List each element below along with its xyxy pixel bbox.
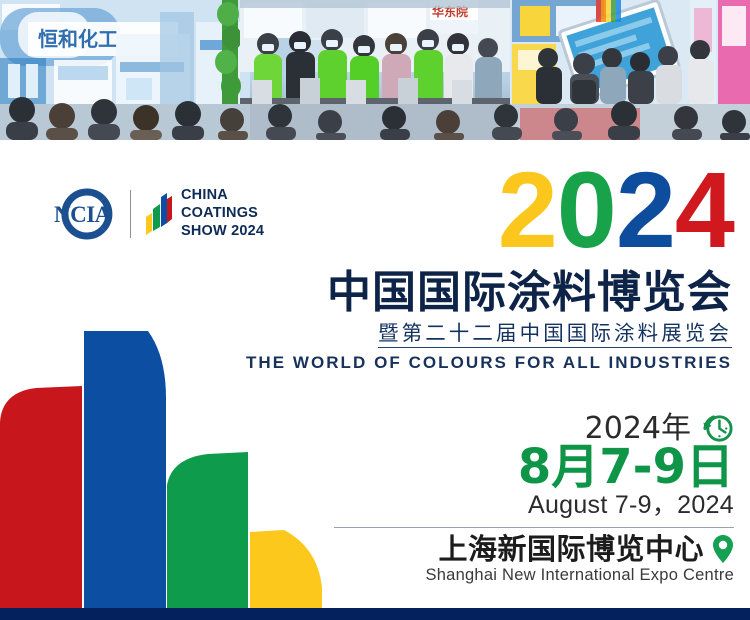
logo-line-1: CHINA [181,187,264,205]
china-coatings-show-text: CHINA COATINGS SHOW 2024 [181,187,264,240]
venue-english: Shanghai New International Expo Centre [334,566,734,585]
poster-root: 恒和化工 [0,0,750,620]
bar-blue [84,331,166,610]
info-divider [334,527,734,528]
colored-bars-icon [145,191,173,237]
svg-text:恒和化工: 恒和化工 [38,27,118,51]
banner-photo-illustration: 恒和化工 [0,0,750,140]
venue-chinese: 上海新国际博览中心 [438,534,704,566]
date-main: 8月7-9日 [334,443,734,491]
title-chinese-sub: 暨第二十二届中国国际涂料展览会 [378,322,732,349]
year-digit-1: 2 [498,156,557,264]
bottom-navy-strip [0,608,750,620]
year-digit-4: 4 [675,156,734,264]
title-chinese: 中国国际涂料博览会 [222,270,732,317]
logo-divider [130,190,131,238]
bar-yellow [250,530,322,610]
title-block: 中国国际涂料博览会 暨第二十二届中国国际涂料展览会 THE WORLD OF C… [222,270,732,373]
year-digit-2: 0 [557,156,616,264]
svg-text:NCIA: NCIA [54,202,112,227]
location-pin-icon [712,534,734,564]
year-digit-3: 2 [616,156,675,264]
exhibition-photo-banner: 恒和化工 [0,0,750,140]
logo-lockup[interactable]: NCIA CHINA COATINGS SHOW 2024 [46,183,264,245]
bar-green [167,452,248,610]
venue-cn-row: 上海新国际博览中心 [334,534,734,566]
date-english: August 7-9，2024 [334,492,734,520]
logo-line-3: SHOW 2024 [181,223,264,241]
year-2024: 2024 [498,156,734,264]
logo-line-2: COATINGS [181,205,264,223]
title-english: THE WORLD OF COLOURS FOR ALL INDUSTRIES [222,353,732,373]
bar-red [0,386,82,610]
ncia-logo-icon: NCIA [46,185,114,243]
date-venue-block: 2024年 8月7-9日 August 7-9，2024 上海新国际博览中心 S… [334,412,734,585]
